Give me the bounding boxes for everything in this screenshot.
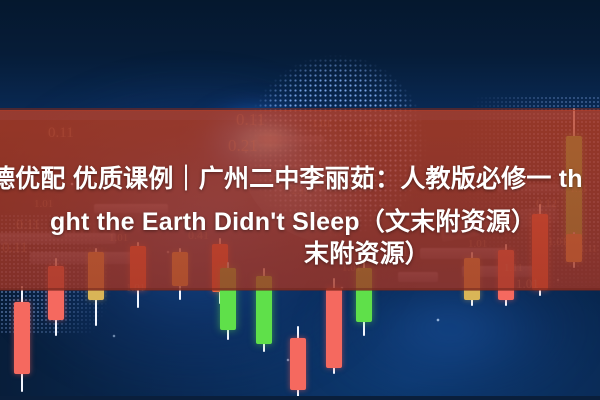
banner-image: 0.110.110.211.010.110.111.010.411.011.11… <box>0 0 600 400</box>
overlay-band-bottom-edge <box>0 288 600 291</box>
overlay-band <box>0 110 600 290</box>
title-line-2: ght the Earth Didn't Sleep（文末附资源） <box>50 202 536 238</box>
title-line-1: 德优配 优质课例｜广州二中李丽茹：人教版必修一 th <box>0 159 583 195</box>
bottom-edge-strip <box>0 396 600 400</box>
title-line-3: 末附资源） <box>304 234 430 270</box>
